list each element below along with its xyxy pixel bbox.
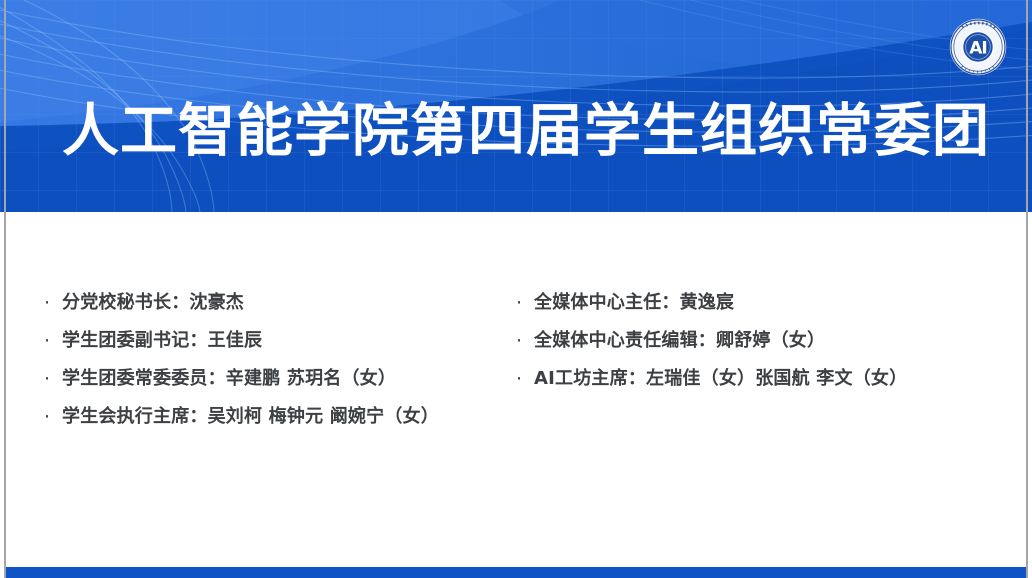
roster-column-left: · 分党校秘书长：沈豪杰 · 学生团委副书记：王佳辰 · 学生团委常委委员：辛建… [0,284,510,436]
roster-entry-label: 全媒体中心责任编辑：卿舒婷（女） [534,322,825,360]
list-item: · 全媒体中心责任编辑：卿舒婷（女） [516,322,1010,360]
roster-entry-label: 学生会执行主席：吴刘柯 梅钟元 阚婉宁（女） [62,398,439,436]
list-item: · 分党校秘书长：沈豪杰 [44,284,510,322]
bullet-dot-icon: · [516,284,534,322]
roster-entry-label: 学生团委副书记：王佳辰 [62,322,262,360]
logo-emblem-svg: AI [949,18,1007,76]
list-item: · 学生团委常委委员：辛建鹏 苏玥名（女） [44,360,510,398]
bullet-dot-icon: · [516,322,534,360]
roster-list-right: · 全媒体中心主任：黄逸宸 · 全媒体中心责任编辑：卿舒婷（女） · AI工坊主… [516,284,1010,398]
bullet-dot-icon: · [44,322,62,360]
slide-header-banner: 人工智能学院第四届学生组织常委团 AI [0,0,1032,212]
bullet-dot-icon: · [44,360,62,398]
list-item: · 学生会执行主席：吴刘柯 梅钟元 阚婉宁（女） [44,398,510,436]
list-item: · 全媒体中心主任：黄逸宸 [516,284,1010,322]
roster-columns: · 分党校秘书长：沈豪杰 · 学生团委副书记：王佳辰 · 学生团委常委委员：辛建… [0,284,1032,436]
bullet-dot-icon: · [44,398,62,436]
roster-entry-label: 分党校秘书长：沈豪杰 [62,284,244,322]
roster-entry-label: 全媒体中心主任：黄逸宸 [534,284,734,322]
footer-accent-bar [4,567,1028,578]
roster-entry-label: AI工坊主席：左瑞佳（女）张国航 李文（女） [534,360,907,398]
svg-text:AI: AI [969,38,986,58]
bullet-dot-icon: · [44,284,62,322]
bullet-dot-icon: · [516,360,534,398]
list-item: · 学生团委副书记：王佳辰 [44,322,510,360]
list-item: · AI工坊主席：左瑞佳（女）张国航 李文（女） [516,360,1010,398]
roster-column-right: · 全媒体中心主任：黄逸宸 · 全媒体中心责任编辑：卿舒婷（女） · AI工坊主… [510,284,1010,436]
slide-body: · 分党校秘书长：沈豪杰 · 学生团委副书记：王佳辰 · 学生团委常委委员：辛建… [0,212,1032,568]
college-logo-icon: AI [949,18,1007,76]
header-background-graphic [0,0,1032,212]
presentation-slide: 人工智能学院第四届学生组织常委团 AI [0,0,1032,578]
roster-list-left: · 分党校秘书长：沈豪杰 · 学生团委副书记：王佳辰 · 学生团委常委委员：辛建… [44,284,510,436]
roster-entry-label: 学生团委常委委员：辛建鹏 苏玥名（女） [62,360,396,398]
